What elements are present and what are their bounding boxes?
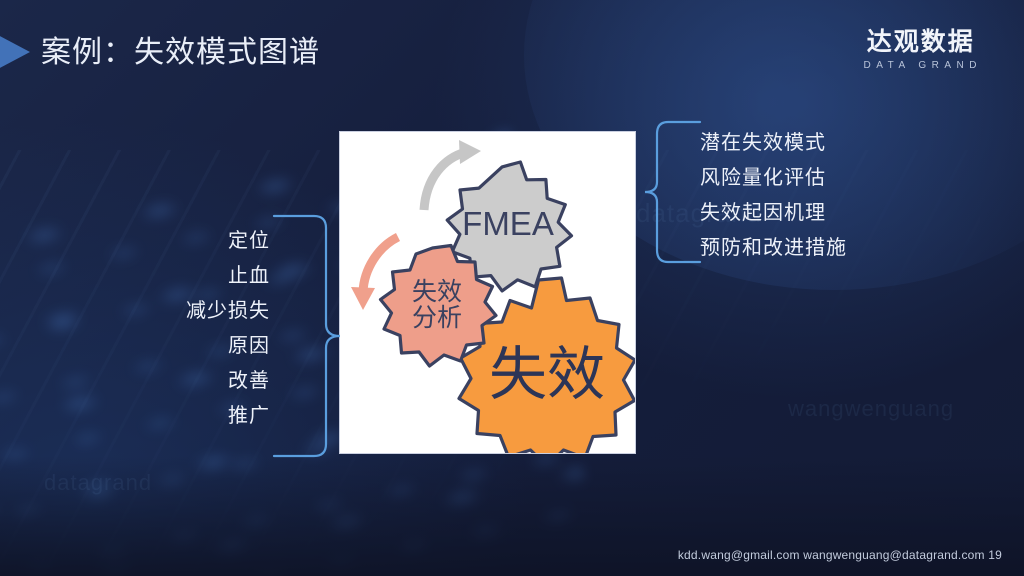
right-step-list: 潜在失效模式 风险量化评估 失效起因机理 预防和改进措施: [700, 126, 960, 266]
list-item: 原因: [120, 329, 270, 364]
list-item: 止血: [120, 259, 270, 294]
list-item: 改善: [120, 364, 270, 399]
failure-analysis-gear-label-1: 失效: [412, 278, 462, 306]
failure-analysis-gear-label-2: 分析: [412, 304, 462, 332]
title-triangle-icon: [0, 33, 30, 71]
brand-logo-en: DATA GRAND: [859, 58, 982, 74]
list-item: 风险量化评估: [700, 161, 960, 196]
fmea-gear-label: FMEA: [462, 205, 554, 242]
list-item: 潜在失效模式: [700, 126, 960, 161]
gear-diagram-panel: FMEA 失效 失效 分析: [339, 131, 636, 454]
list-item: 定位: [120, 224, 270, 259]
gear-diagram-svg: FMEA 失效 失效 分析: [340, 132, 635, 453]
brand-logo: 达观数据 DATA GRAND: [859, 27, 982, 74]
list-item: 推广: [120, 399, 270, 434]
footer-contact: kdd.wang@gmail.com wangwenguang@datagran…: [678, 548, 1002, 562]
list-item: 减少损失: [120, 294, 270, 329]
left-curly-brace: [270, 208, 350, 464]
slide-root: datagrand wangwenguang datagrand 案例：失效模式…: [0, 0, 1024, 576]
page-title: 案例：失效模式图谱: [41, 33, 320, 73]
failure-gear-label: 失效: [489, 342, 605, 407]
left-step-list: 定位 止血 减少损失 原因 改善 推广: [120, 224, 270, 434]
list-item: 失效起因机理: [700, 196, 960, 231]
brand-logo-cn: 达观数据: [859, 27, 982, 57]
right-curly-brace: [640, 112, 704, 272]
list-item: 预防和改进措施: [700, 231, 960, 266]
